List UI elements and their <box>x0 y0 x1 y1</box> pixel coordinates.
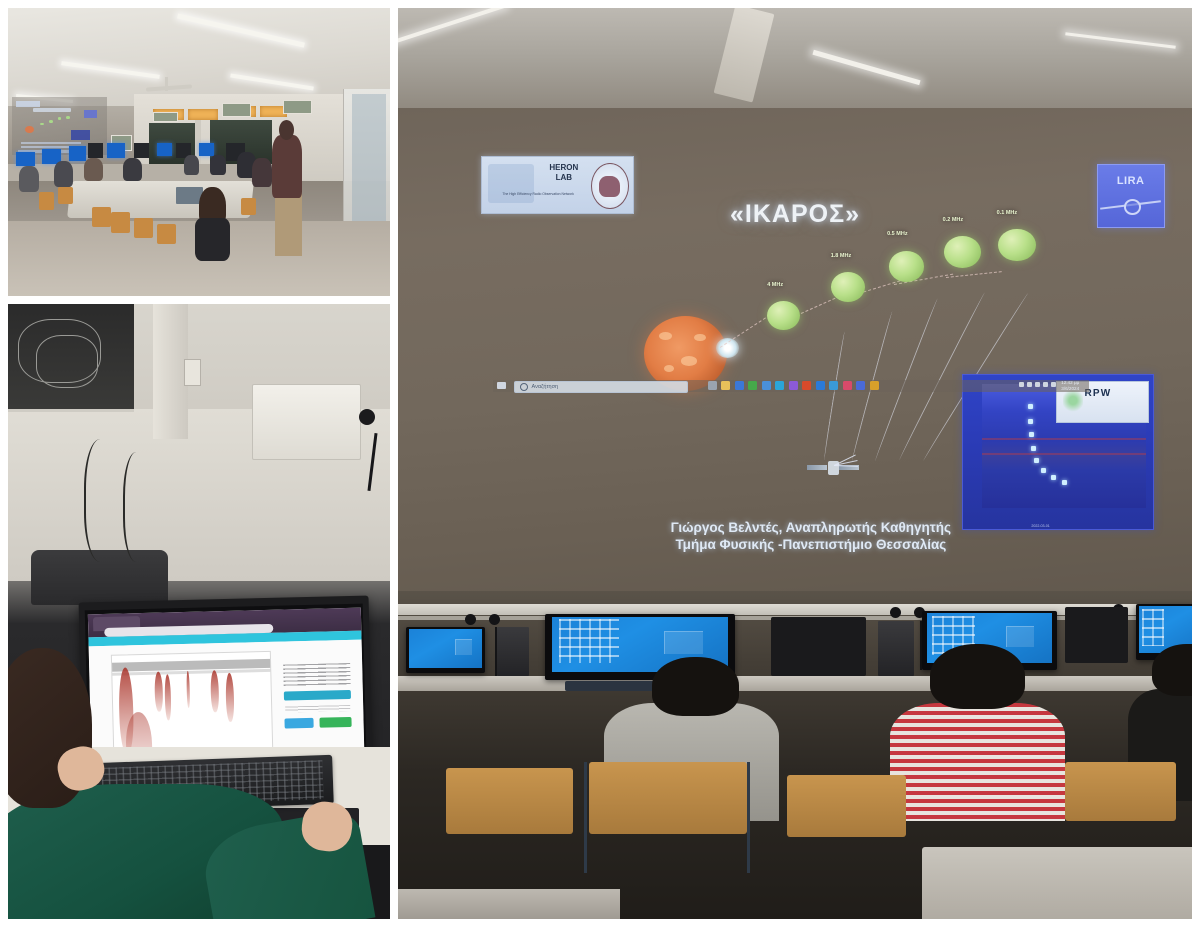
seated-student <box>184 155 199 175</box>
workstation-desk <box>398 676 1192 691</box>
chair <box>134 218 153 238</box>
spectrum-line <box>982 438 1146 440</box>
slide-heron-logo-small <box>16 101 41 107</box>
windows-logo-icon <box>455 639 472 655</box>
classroom-workstations-area <box>398 591 1192 919</box>
wall-picture <box>222 103 251 117</box>
slide-orb-small <box>66 116 70 119</box>
volume-icon[interactable] <box>1051 382 1056 387</box>
search-placeholder: Αναζήτηση <box>532 384 559 390</box>
orb-frequency-label: 0.5 MHz <box>887 231 907 237</box>
chair <box>39 192 54 209</box>
rpw-label: RPW <box>1084 388 1144 399</box>
app-icon[interactable] <box>856 381 865 390</box>
projection-room-photo: HERON LAB The High Efficiency Radio Obse… <box>398 8 1192 919</box>
radio-burst-trace <box>225 673 234 722</box>
lab-monitor <box>406 627 485 673</box>
rpw-spectrogram-inset: RPW 2022-03-01 <box>962 374 1155 531</box>
radio-burst-trace <box>186 671 190 708</box>
projection-wall: HERON LAB The High Efficiency Radio Obse… <box>398 108 1192 591</box>
room-ceiling <box>398 8 1192 117</box>
ceiling-light-fixture <box>1065 32 1176 49</box>
app-icon[interactable] <box>735 381 744 390</box>
file-explorer-icon[interactable] <box>721 381 730 390</box>
clerestory-window <box>188 109 219 121</box>
microphone-head <box>359 409 375 425</box>
app-icon[interactable] <box>789 381 798 390</box>
seated-student <box>210 155 225 175</box>
presenter-affiliation-line: Τμήμα Φυσικής -Πανεπιστήμιο Θεσσαλίας <box>589 536 1034 554</box>
overhead-cabinet <box>8 304 134 412</box>
student-torso-striped <box>890 703 1065 821</box>
burst-track-point <box>1031 446 1036 451</box>
edge-icon[interactable] <box>775 381 784 390</box>
slide-orb-small <box>40 123 44 126</box>
burst-track-point <box>1041 468 1046 473</box>
app-icon[interactable] <box>870 381 879 390</box>
emission-path-dash <box>946 271 1001 278</box>
app-icon[interactable] <box>843 381 852 390</box>
ceiling-light-fixture <box>398 8 507 47</box>
seated-student <box>54 161 73 187</box>
start-play-button[interactable] <box>283 690 351 701</box>
radio-burst-trace <box>209 671 218 713</box>
sun-granule <box>659 332 672 340</box>
wall-column <box>153 304 187 439</box>
heron-face-drawing-icon <box>488 164 533 203</box>
burst-track-point <box>1028 404 1033 409</box>
slide-lira-logo-small <box>84 110 96 118</box>
presenter-legs <box>275 192 302 255</box>
radio-source-orb <box>944 236 981 268</box>
windows-logo-icon <box>664 631 704 654</box>
hanging-cable <box>84 439 124 562</box>
wall-mounted-box <box>252 384 361 460</box>
student-workstation-photo <box>8 304 390 919</box>
power-plug <box>489 614 500 625</box>
projected-slide: HERON LAB The High Efficiency Radio Obse… <box>398 108 1192 591</box>
chair <box>241 198 256 215</box>
foreground-student-body <box>195 218 229 261</box>
cabinet-decal <box>36 335 99 387</box>
heron-line2: LAB <box>537 173 591 183</box>
chair <box>157 224 176 244</box>
hanging-cable <box>123 452 156 563</box>
wall-socket <box>184 359 201 386</box>
solar-orbiter-spacecraft-icon <box>807 456 859 480</box>
chair-backrest <box>1065 762 1176 821</box>
photo-collage: HERON LAB The High Efficiency Radio Obse… <box>0 0 1200 927</box>
student-head <box>930 644 1025 710</box>
taskbar-clock[interactable]: 12:42 μμ 3/6/2024 <box>1061 380 1079 392</box>
lab-monitor <box>69 146 86 160</box>
panel-note <box>285 706 350 713</box>
heron-subtitle: The High Efficiency Radio Observation Ne… <box>488 192 588 197</box>
slide-orb-small <box>58 117 62 120</box>
clock-date: 3/6/2024 <box>1061 386 1079 392</box>
tray-icon[interactable] <box>1035 382 1040 387</box>
panel-instructions <box>282 663 350 687</box>
sun-granule <box>664 365 674 372</box>
ceiling-light-fixture <box>812 50 920 85</box>
tray-icon[interactable] <box>1027 382 1032 387</box>
presenter-name-line: Γιώργος Βελντές, Αναπληρωτής Καθηγητής <box>589 519 1034 537</box>
lira-logo: LIRA <box>1097 164 1165 229</box>
lira-circle-icon <box>1124 199 1141 215</box>
task-view-icon[interactable] <box>708 381 717 390</box>
radio-source-orb <box>998 229 1035 261</box>
rpw-axis-label: 2022-03-01 <box>1031 524 1049 528</box>
sun-granule <box>681 356 698 366</box>
burst-track-point <box>1051 475 1056 480</box>
chair <box>58 187 73 204</box>
orb-frequency-label: 4 MHz <box>767 282 783 288</box>
heron-line1: HERON <box>537 163 591 173</box>
heron-lab-text: HERON LAB <box>537 163 591 183</box>
wall-picture <box>283 100 312 114</box>
orb-frequency-label: 0.1 MHz <box>997 210 1017 216</box>
lab-monitor-off <box>1065 607 1129 663</box>
lab-monitor <box>157 143 172 156</box>
projected-windows-taskbar: Αναζήτηση <box>493 380 1089 393</box>
check-data-button[interactable] <box>284 718 314 729</box>
presenter-caption: Γιώργος Βελντές, Αναπληρωτής Καθηγητής Τ… <box>589 519 1034 555</box>
sun-granule <box>694 334 706 341</box>
burst-track-point <box>1028 419 1033 424</box>
university-seal-icon <box>591 163 629 209</box>
seated-student <box>123 158 142 181</box>
heron-lab-logo: HERON LAB The High Efficiency Radio Obse… <box>481 156 634 214</box>
seated-student <box>84 158 103 181</box>
radio-burst-trace <box>164 674 171 721</box>
slide-orb-small <box>49 120 53 123</box>
start-button-icon[interactable] <box>497 382 507 389</box>
radio-source-orb <box>831 272 865 302</box>
lab-monitor-off <box>88 143 103 157</box>
orb-frequency-label: 0.2 MHz <box>943 217 963 223</box>
chair-frame <box>747 762 750 874</box>
desktop-icons <box>1142 609 1164 646</box>
lab-monitor-off <box>134 143 149 157</box>
seated-student <box>252 158 271 187</box>
radio-burst-trace <box>154 672 163 712</box>
monitor-screen-desktop <box>409 629 482 668</box>
chair <box>111 212 130 232</box>
front-table <box>922 847 1192 919</box>
power-plug <box>465 614 476 625</box>
presenter-torso <box>272 135 303 198</box>
slide-sun-small <box>25 126 34 133</box>
slide-title: «ΙΚΑΡΟΣ» <box>684 200 906 229</box>
taskbar-search-box[interactable]: Αναζήτηση <box>514 381 689 394</box>
lira-label: LIRA <box>1098 175 1164 187</box>
spectrum-line <box>982 453 1146 455</box>
student-head <box>652 657 739 716</box>
lab-monitor <box>107 143 124 157</box>
windows-logo-icon <box>1006 626 1034 647</box>
slide-caption-small <box>21 146 73 148</box>
taskbar-app-icons <box>708 381 879 390</box>
chair-backrest <box>589 762 748 834</box>
radio-wave-line <box>823 332 846 461</box>
desktop-icons <box>559 619 619 663</box>
lab-monitor <box>16 152 35 166</box>
chair <box>92 207 111 227</box>
seated-student <box>19 166 38 192</box>
burst-track-point <box>1034 458 1039 463</box>
front-table-edge <box>398 889 620 919</box>
teams-icon[interactable] <box>816 381 825 390</box>
pc-tower <box>497 627 529 676</box>
burst-track-point <box>1029 432 1034 437</box>
chair-frame <box>584 762 587 874</box>
chevron-up-icon[interactable] <box>1019 382 1024 387</box>
network-icon[interactable] <box>1043 382 1048 387</box>
acrobat-icon[interactable] <box>802 381 811 390</box>
spacecraft-solar-panel <box>807 465 827 470</box>
reset-button[interactable] <box>319 717 352 728</box>
slide-title-small <box>33 108 71 113</box>
seal-horse-rider-icon <box>599 176 619 197</box>
orb-frequency-label: 1.8 MHz <box>831 253 851 259</box>
wall-picture <box>153 112 178 123</box>
slide-rpw-inset-small <box>71 130 90 140</box>
system-tray <box>1019 382 1056 387</box>
lab-monitor <box>199 143 214 156</box>
chair-backrest <box>446 768 573 834</box>
radio-source-orb <box>889 251 925 282</box>
burst-track-point <box>1062 480 1067 485</box>
app-icon[interactable] <box>829 381 838 390</box>
chair-backrest <box>787 775 906 837</box>
search-icon <box>520 383 528 391</box>
cabinet-glass <box>352 94 386 224</box>
radio-source-orb <box>767 301 800 330</box>
app-icon[interactable] <box>762 381 771 390</box>
slide-caption-small <box>21 142 80 144</box>
chrome-icon[interactable] <box>748 381 757 390</box>
classroom-wide-photo <box>8 8 390 296</box>
pc-tower <box>878 621 914 677</box>
lab-monitor-off <box>771 617 866 676</box>
